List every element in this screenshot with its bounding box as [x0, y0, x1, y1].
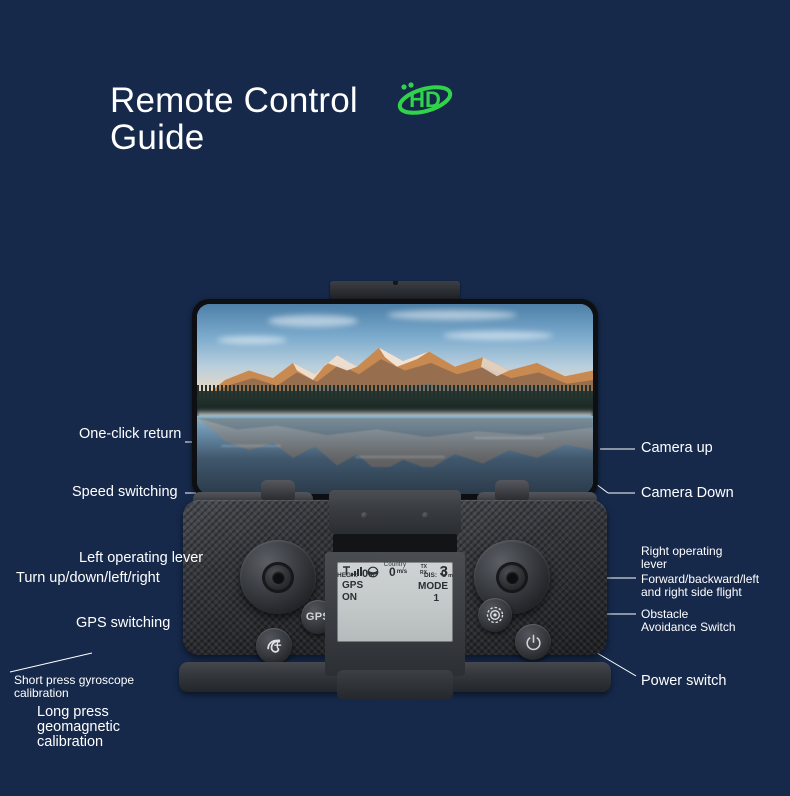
phone-screen[interactable] [197, 304, 593, 494]
signal-bars-icon [342, 566, 364, 577]
water-streak [221, 445, 281, 447]
callout-gps-switching: GPS switching [76, 616, 170, 631]
page-title-line2: Guide [110, 119, 530, 156]
callout-camera-up: Camera up [641, 441, 713, 456]
page-title: Remote Control Guide [110, 82, 530, 156]
left-joystick-neck [261, 480, 295, 500]
callout-obstacle-avoidance: Obstacle Avoidance Switch [641, 608, 736, 634]
lcd-gps-state: ON [342, 592, 357, 603]
screw-right [422, 512, 429, 519]
lcd-txrx: TX RX [420, 565, 427, 576]
gyroscope-calibration-button[interactable] [256, 628, 292, 664]
lcd-speed-value: 0 [389, 565, 396, 579]
lcd-speed: 0m/s [389, 565, 407, 579]
centre-foot [337, 670, 453, 700]
remote-controller: GPS [183, 492, 607, 680]
callout-one-click-return: One-click return [79, 427, 181, 442]
left-joystick[interactable] [240, 540, 316, 614]
screw-left [361, 512, 368, 519]
cloud [443, 331, 553, 340]
phone-clamp-top [330, 281, 460, 299]
right-joystick-cap[interactable] [496, 562, 528, 593]
lcd-distance-unit: m [448, 573, 453, 579]
gyroscope-icon [264, 636, 284, 656]
power-icon [524, 633, 543, 652]
lcd-mode-value: 1 [433, 593, 439, 604]
lcd-speed-unit: m/s [397, 569, 407, 575]
radar-target-icon [485, 605, 505, 625]
phone-holder-slot [333, 534, 457, 554]
page-root: Remote Control Guide HD [0, 0, 790, 796]
callout-left-lever-desc: Turn up/down/left/right [16, 571, 160, 586]
mountain-reflection [197, 418, 593, 467]
callout-gyro-long-press: Long press geomagnetic calibration [37, 705, 120, 750]
lcd-rx-label: RX [420, 571, 427, 577]
lcd-gps-label: GPS [342, 580, 363, 591]
centre-module: 0m/s TX RX 3 GPS ON MODE 1 Country HEGH:… [323, 490, 467, 682]
callout-speed-switching: Speed switching [72, 485, 178, 500]
lcd-display: 0m/s TX RX 3 GPS ON MODE 1 Country HEGH:… [337, 562, 453, 642]
mounted-phone [192, 299, 598, 499]
water-streak [355, 456, 445, 458]
page-title-line1: Remote Control [110, 82, 530, 119]
callout-gyro-short-press: Short press gyroscope calibration [14, 674, 134, 700]
phone-holder-arm [329, 490, 461, 534]
callout-camera-down: Camera Down [641, 486, 734, 501]
power-button[interactable] [515, 624, 551, 660]
hd-logo-icon: HD [392, 78, 454, 118]
water-streak [474, 437, 544, 439]
hd-logo-text: HD [409, 87, 441, 112]
callout-left-lever-title: Left operating lever [79, 551, 203, 566]
cloud [387, 310, 517, 320]
left-joystick-cap[interactable] [262, 562, 294, 593]
callout-power-switch: Power switch [641, 674, 726, 689]
lcd-module: 0m/s TX RX 3 GPS ON MODE 1 Country HEGH:… [325, 552, 465, 676]
obstacle-avoidance-button[interactable] [478, 598, 512, 632]
callout-right-lever-desc: Forward/backward/left and right side fli… [641, 573, 759, 599]
callout-right-lever-title: Right operating lever [641, 545, 722, 571]
satellite-icon [367, 566, 379, 578]
lcd-mode-label: MODE [418, 581, 448, 592]
right-joystick-neck [495, 480, 529, 500]
lcd-battery-bars: 3 [440, 564, 448, 579]
